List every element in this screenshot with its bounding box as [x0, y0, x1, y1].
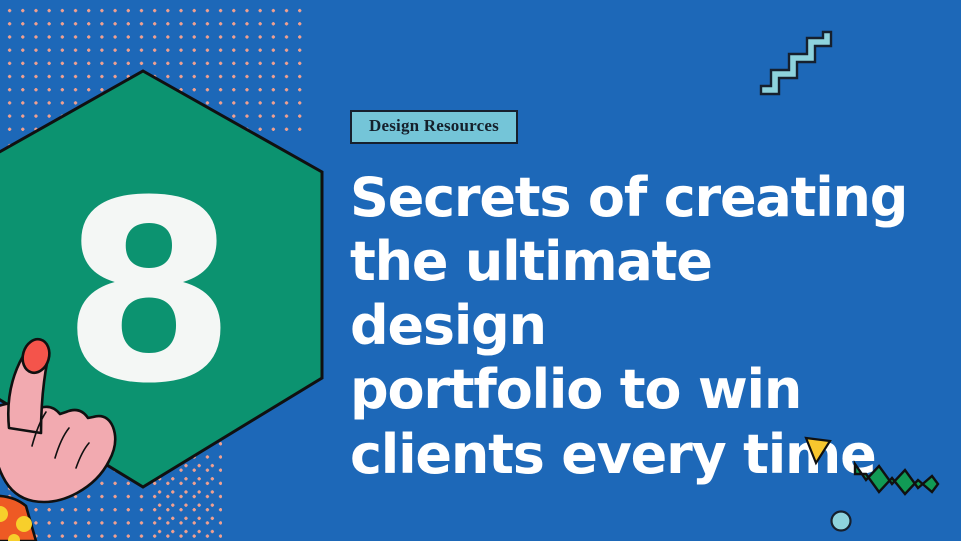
pointing-hand-illustration	[0, 300, 154, 541]
zigzag-green-icon	[852, 458, 942, 500]
circle-teal-icon	[829, 509, 853, 533]
zigzag-blue-icon	[757, 22, 837, 104]
text-content-block: Design Resources Secrets of creating the…	[350, 110, 910, 487]
triangle-down-icon	[803, 435, 833, 465]
category-badge[interactable]: Design Resources	[350, 110, 518, 144]
slide-canvas: 8	[0, 0, 961, 541]
